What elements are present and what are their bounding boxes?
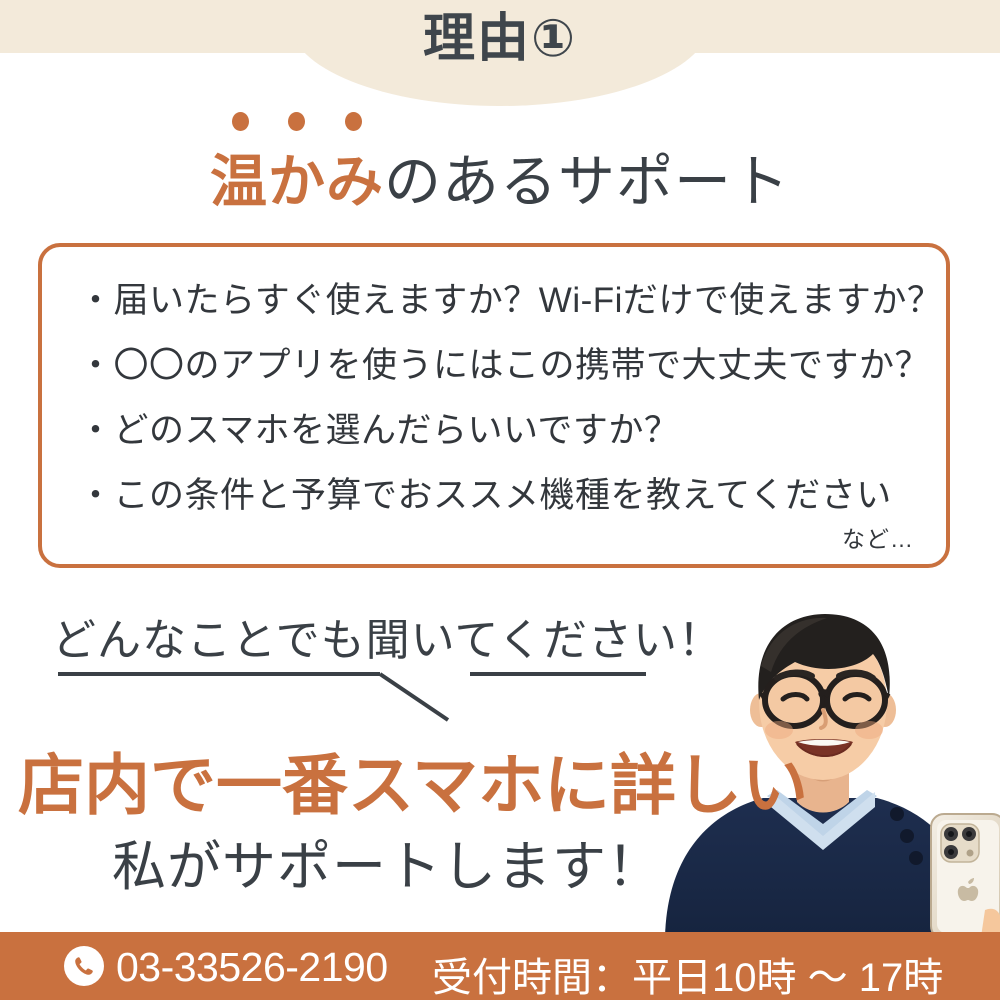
lead-title-highlight: 温かみ: [210, 150, 384, 214]
questions-list: ・届いたらすぐ使えますか？Wi-Fiだけで使えますか？ ・〇〇のアプリを使うには…: [78, 267, 922, 527]
emphasis-dots: [232, 112, 432, 134]
lead-title: 温かみのあるサポート: [0, 136, 1000, 218]
reception-hours: 受付時間：平日10時 〜 17時: [432, 945, 943, 1000]
list-item: ・届いたらすぐ使えますか？Wi-Fiだけで使えますか？: [78, 267, 922, 318]
big-headline: 店内で一番スマホに詳しい: [18, 732, 808, 828]
etc-note: など…: [842, 520, 914, 554]
list-item: ・この条件と予算でおススメ機種を教えてください: [78, 462, 922, 513]
list-item: ・〇〇のアプリを使うにはこの携帯で大丈夫ですか？: [78, 332, 922, 383]
speech-bubble-tail: [50, 668, 670, 728]
list-item: ・どのスマホを選んだらいいですか？: [78, 397, 922, 448]
promo-poster: 理由① 温かみのあるサポート ・届いたらすぐ使えますか？Wi-Fiだけで使えます…: [0, 0, 1000, 1000]
footer-contact-bar: 03-33526-2190 受付時間：平日10時 〜 17時: [0, 932, 1000, 1000]
support-subline: 私がサポートします！: [112, 822, 662, 901]
emphasis-dot: [345, 112, 362, 131]
emphasis-dot: [288, 112, 305, 131]
reason-badge-label: 理由①: [0, 12, 1000, 67]
questions-box: ・届いたらすぐ使えますか？Wi-Fiだけで使えますか？ ・〇〇のアプリを使うには…: [38, 243, 950, 568]
phone-handset-glyph: [72, 954, 96, 978]
phone-number[interactable]: 03-33526-2190: [116, 944, 388, 991]
ask-anything-text: どんなことでも聞いてください！: [52, 604, 723, 668]
lead-title-rest: のあるサポート: [384, 150, 790, 214]
emphasis-dot: [232, 112, 249, 131]
phone-handset-icon[interactable]: [64, 946, 104, 986]
